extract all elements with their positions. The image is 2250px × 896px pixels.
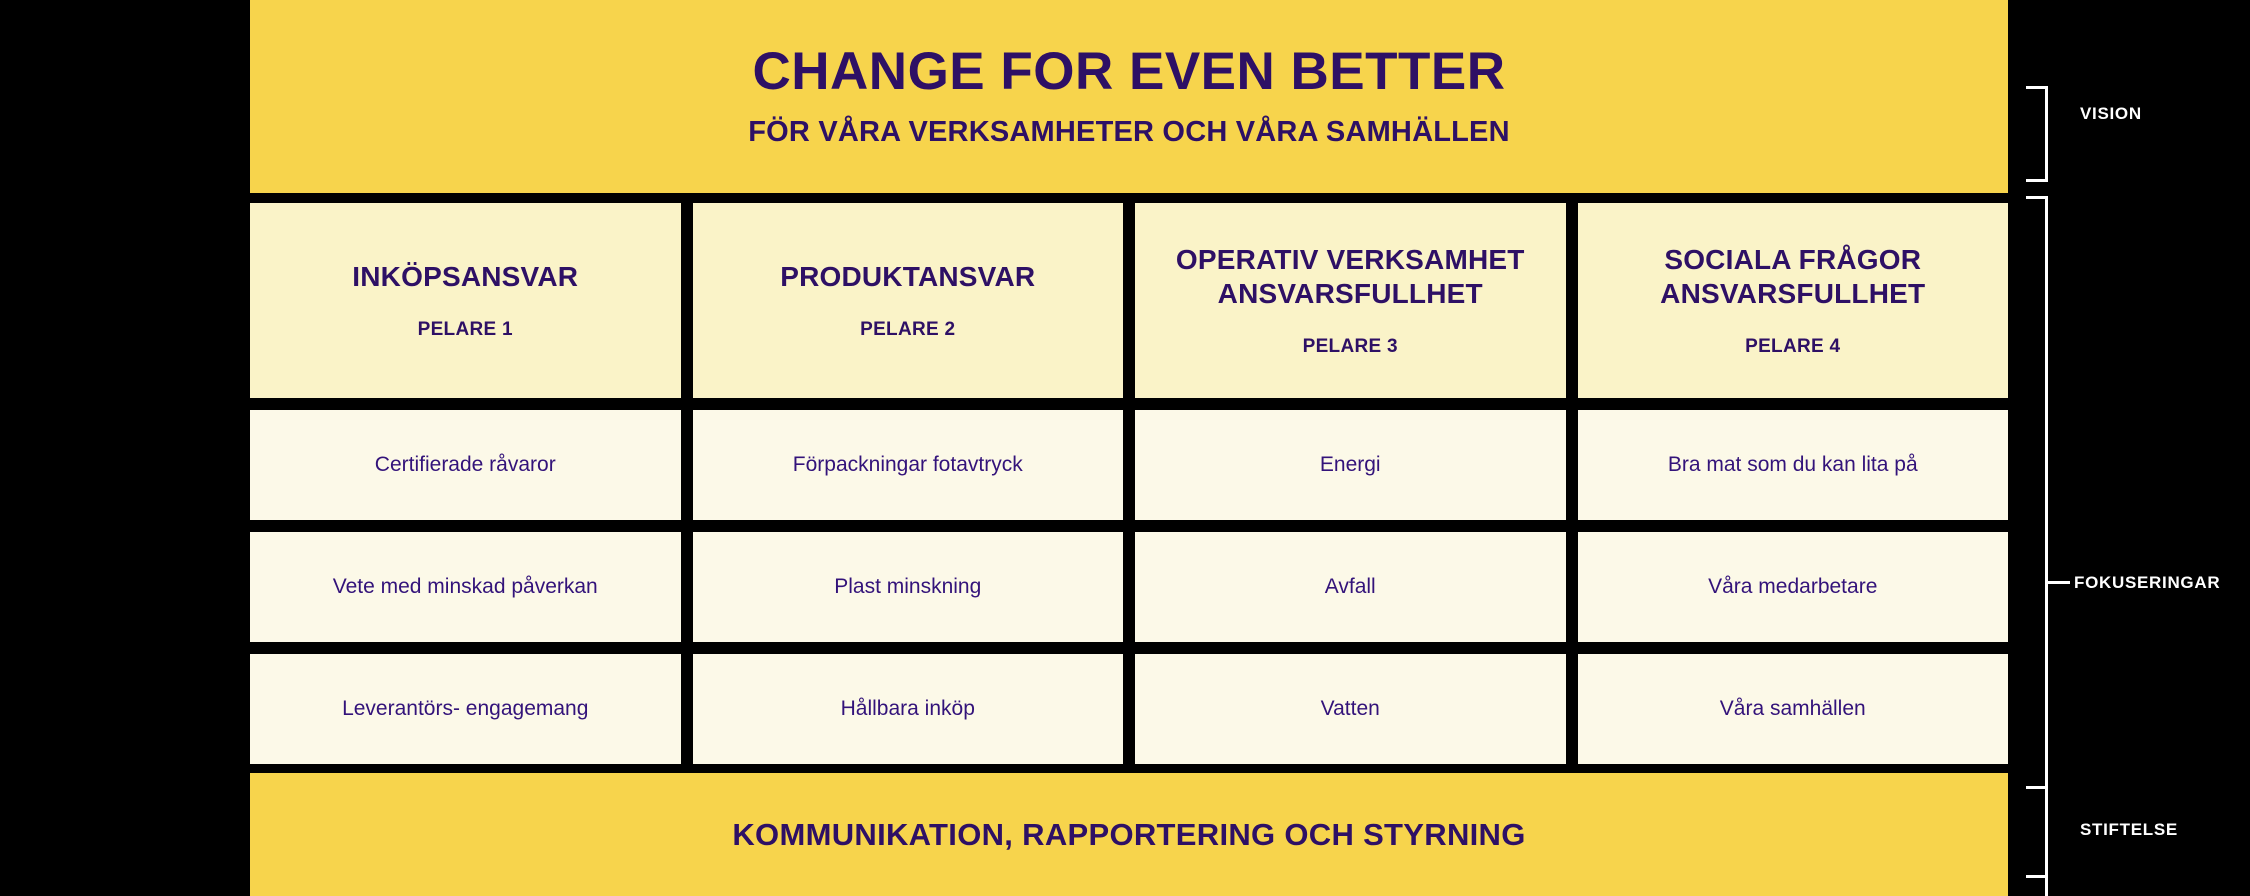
focus-cell-label: Våra medarbetare — [1708, 574, 1877, 600]
pillar-title-4: SOCIALA FRÅGOR ANSVARSFULLHET — [1592, 243, 1995, 309]
pillar-label-1: PELARE 1 — [418, 319, 513, 341]
annotation-label-foundation: STIFTELSE — [2080, 820, 2178, 840]
foundation-bracket — [2026, 786, 2048, 878]
focus-cell[interactable]: Plast minskning — [693, 532, 1124, 642]
focus-cell[interactable]: Leverantörs- engagemang — [250, 654, 681, 764]
focus-cell-label: Energi — [1320, 452, 1381, 478]
focus-cell-label: Våra samhällen — [1720, 696, 1866, 722]
focus-cell-label: Leverantörs- engagemang — [342, 696, 588, 722]
focus-cell-label: Certifierade råvaror — [375, 452, 556, 478]
focus-cell-label: Bra mat som du kan lita på — [1668, 452, 1918, 478]
focus-cell[interactable]: Energi — [1135, 410, 1566, 520]
framework-column: CHANGE FOR EVEN BETTER FÖR VÅRA VERKSAMH… — [250, 0, 2008, 896]
focus-cell-label: Hållbara inköp — [841, 696, 975, 722]
infographic-root: CHANGE FOR EVEN BETTER FÖR VÅRA VERKSAMH… — [0, 0, 2250, 896]
pillar-label-2: PELARE 2 — [860, 319, 955, 341]
foundation-bar: KOMMUNIKATION, RAPPORTERING OCH STYRNING — [250, 773, 2008, 896]
pillar-title-1: INKÖPSANSVAR — [352, 260, 578, 293]
focus-cell[interactable]: Vatten — [1135, 654, 1566, 764]
pillar-card-4[interactable]: SOCIALA FRÅGOR ANSVARSFULLHET PELARE 4 — [1578, 203, 2009, 398]
pillar-card-1[interactable]: INKÖPSANSVAR PELARE 1 — [250, 203, 681, 398]
focus-cell[interactable]: Våra medarbetare — [1578, 532, 2009, 642]
pillar-card-3[interactable]: OPERATIV VERKSAMHET ANSVARSFULLHET PELAR… — [1135, 203, 1566, 398]
annotation-column: VISION FOKUSERINGAR STIFTELSE — [2008, 0, 2250, 896]
focus-cell-label: Plast minskning — [834, 574, 981, 600]
vision-title: CHANGE FOR EVEN BETTER — [752, 44, 1505, 100]
focus-tick-marker — [2048, 581, 2070, 584]
pillar-title-2: PRODUKTANSVAR — [780, 260, 1035, 293]
vision-bracket — [2026, 86, 2048, 182]
focus-cell[interactable]: Avfall — [1135, 532, 1566, 642]
focus-cell-label: Vete med minskad påverkan — [333, 574, 598, 600]
focus-cell[interactable]: Certifierade råvaror — [250, 410, 681, 520]
focus-cell-label: Avfall — [1325, 574, 1376, 600]
focus-cell[interactable]: Hållbara inköp — [693, 654, 1124, 764]
pillar-grid: INKÖPSANSVAR PELARE 1 PRODUKTANSVAR PELA… — [250, 203, 2008, 764]
vision-band: CHANGE FOR EVEN BETTER FÖR VÅRA VERKSAMH… — [250, 0, 2008, 193]
focus-cell[interactable]: Förpackningar fotavtryck — [693, 410, 1124, 520]
vision-subtitle: FÖR VÅRA VERKSAMHETER OCH VÅRA SAMHÄLLEN — [748, 116, 1509, 149]
pillar-label-4: PELARE 4 — [1745, 336, 1840, 358]
pillar-title-3: OPERATIV VERKSAMHET ANSVARSFULLHET — [1149, 243, 1552, 309]
focus-cell-label: Vatten — [1321, 696, 1380, 722]
annotation-label-focus: FOKUSERINGAR — [2074, 573, 2220, 593]
focus-cell[interactable]: Våra samhällen — [1578, 654, 2009, 764]
focus-cell[interactable]: Bra mat som du kan lita på — [1578, 410, 2009, 520]
pillar-card-2[interactable]: PRODUKTANSVAR PELARE 2 — [693, 203, 1124, 398]
foundation-label: KOMMUNIKATION, RAPPORTERING OCH STYRNING — [732, 817, 1525, 853]
annotation-label-vision: VISION — [2080, 104, 2142, 124]
focus-cell[interactable]: Vete med minskad påverkan — [250, 532, 681, 642]
focus-cell-label: Förpackningar fotavtryck — [793, 452, 1023, 478]
pillar-label-3: PELARE 3 — [1303, 336, 1398, 358]
